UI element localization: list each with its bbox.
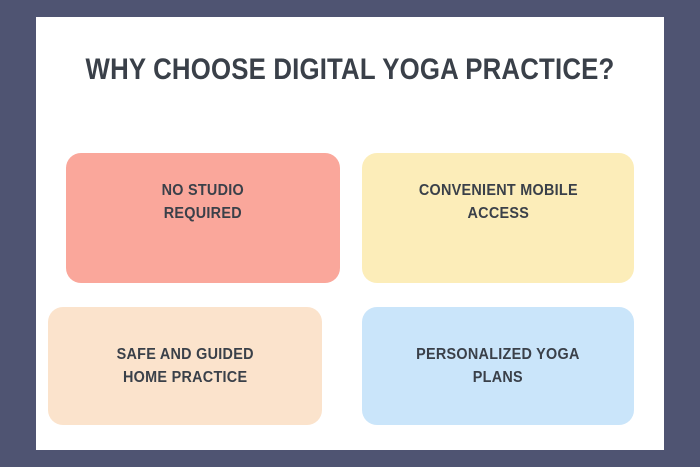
poster-canvas: WHY CHOOSE DIGITAL YOGA PRACTICE? NO STU… [0,0,700,467]
benefit-card-line-2: REQUIRED [162,202,244,225]
benefit-card-line-2: PLANS [416,366,580,389]
benefit-card-line-1: PERSONALIZED YOGA [416,343,580,366]
benefit-card-personalized-yoga-plans: PERSONALIZED YOGA PLANS [362,307,634,425]
benefit-card-text: PERSONALIZED YOGA PLANS [416,343,580,389]
benefit-card-line-2: ACCESS [418,202,577,225]
benefit-card-safe-and-guided-home-practice: SAFE AND GUIDED HOME PRACTICE [48,307,322,425]
benefit-card-text: SAFE AND GUIDED HOME PRACTICE [116,343,253,389]
benefit-card-text: CONVENIENT MOBILE ACCESS [418,179,577,225]
benefit-card-convenient-mobile-access: CONVENIENT MOBILE ACCESS [362,153,634,283]
poster-white-panel: WHY CHOOSE DIGITAL YOGA PRACTICE? NO STU… [36,17,664,450]
benefit-card-line-1: NO STUDIO [162,179,244,202]
benefit-card-line-2: HOME PRACTICE [116,366,253,389]
benefit-card-text: NO STUDIO REQUIRED [162,179,244,225]
benefit-card-line-1: SAFE AND GUIDED [116,343,253,366]
page-title: WHY CHOOSE DIGITAL YOGA PRACTICE? [80,53,620,86]
benefit-card-line-1: CONVENIENT MOBILE [418,179,577,202]
benefit-card-no-studio-required: NO STUDIO REQUIRED [66,153,340,283]
